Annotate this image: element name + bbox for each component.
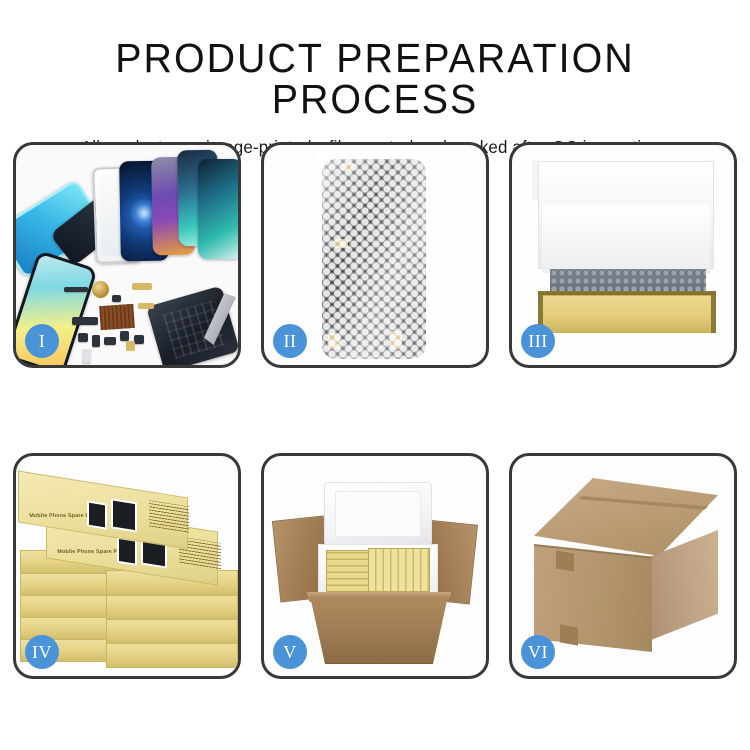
process-step-1-panel: I bbox=[13, 142, 241, 368]
foam-box-lid bbox=[324, 482, 432, 546]
carton-tape-patch-top bbox=[556, 550, 574, 571]
stacked-box-r4 bbox=[106, 618, 238, 644]
stacked-box-r5 bbox=[106, 642, 238, 668]
stacked-box-r3 bbox=[106, 594, 238, 620]
small-chip-3 bbox=[104, 337, 116, 345]
process-step-4-panel: Mobile Phone Spare Parts Mobile Phone Sp… bbox=[13, 453, 241, 679]
process-step-2-panel: II bbox=[261, 142, 489, 368]
speaker-coil bbox=[92, 281, 109, 298]
step-badge-6: VI bbox=[521, 635, 555, 669]
lid-window-1b bbox=[111, 498, 137, 532]
step-badge-4: IV bbox=[25, 635, 59, 669]
page-title: PRODUCT PREPARATION PROCESS bbox=[15, 38, 735, 120]
step-badge-3: III bbox=[521, 324, 555, 358]
gold-flex-3 bbox=[126, 341, 135, 351]
small-chip-5 bbox=[134, 335, 144, 344]
small-chip-4 bbox=[120, 331, 129, 341]
small-chip-6 bbox=[112, 295, 121, 302]
box-front-wall bbox=[538, 295, 716, 333]
flex-cable-chip bbox=[64, 287, 88, 292]
small-chip-1 bbox=[78, 333, 88, 342]
connector-chip bbox=[72, 317, 98, 325]
teal-gradient-phone-large bbox=[198, 159, 238, 259]
gold-flex-2 bbox=[138, 303, 154, 309]
sim-tray bbox=[82, 349, 91, 363]
bubble-wrap-sheen bbox=[316, 151, 434, 365]
process-step-5-panel: V bbox=[261, 453, 489, 679]
small-chip-2 bbox=[92, 335, 100, 347]
page-header: PRODUCT PREPARATION PROCESS All products… bbox=[0, 0, 750, 159]
lid-window-1a bbox=[87, 500, 107, 529]
gold-flex-1 bbox=[132, 283, 152, 290]
lid-spec-lines-1 bbox=[149, 500, 189, 532]
process-step-6-panel: VI bbox=[509, 453, 737, 679]
process-step-3-panel: III bbox=[509, 142, 737, 368]
carton-front-face bbox=[534, 544, 652, 652]
carton-body bbox=[304, 596, 454, 664]
step-badge-1: I bbox=[25, 324, 59, 358]
step-badge-5: V bbox=[273, 635, 307, 669]
packed-boxes-stack-secondary bbox=[368, 548, 430, 592]
carton-tape-patch-bottom bbox=[560, 624, 578, 645]
process-steps-grid: I II III bbox=[13, 142, 737, 679]
step-badge-2: II bbox=[273, 324, 307, 358]
foam-lining bbox=[542, 205, 710, 273]
circuit-board bbox=[99, 304, 135, 330]
box-edge-right bbox=[711, 295, 716, 333]
